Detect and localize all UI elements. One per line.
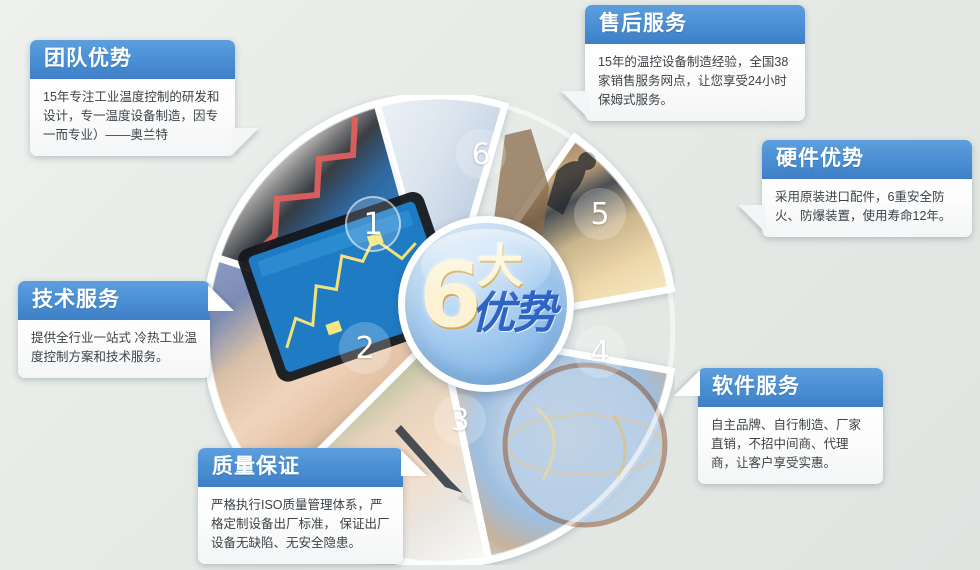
technical-service-card-title: 技术服务: [18, 281, 210, 320]
center-emblem: 6 大 优势: [398, 216, 574, 392]
after-sales-service-card[interactable]: 售后服务 15年的温控设备制造经验，全国38家销售服务网点，让您享受24小时保姆…: [585, 5, 805, 121]
after-sales-service-card-tail: [561, 91, 587, 117]
software-service-card[interactable]: 软件服务 自主品牌、自行制造、厂家直销，不招中间商、代理商，让客户享受实惠。: [698, 368, 883, 484]
quality-assurance-card-title: 质量保证: [198, 448, 403, 487]
team-advantage-card[interactable]: 团队优势 15年专注工业温度控制的研发和设计，专一温度设备制造，因专一而专业）—…: [30, 40, 235, 156]
center-disc: 6 大 优势: [405, 223, 567, 385]
technical-service-card-body: 提供全行业一站式 冷热工业温度控制方案和技术服务。: [18, 320, 210, 378]
software-service-card-tail: [674, 370, 700, 396]
team-advantage-card-tail: [233, 128, 259, 154]
infographic-canvas: 1 2 3 4 5 6 6 大 优势 团队优势 15年专注工业温度控制的研发和设…: [0, 0, 980, 570]
hardware-advantage-card-title: 硬件优势: [762, 140, 972, 179]
technical-service-card-tail: [208, 285, 234, 311]
quality-assurance-card[interactable]: 质量保证 严格执行ISO质量管理体系，严格定制设备出厂标准， 保证出厂设备无缺陷…: [198, 448, 403, 564]
software-service-card-title: 软件服务: [698, 368, 883, 407]
hardware-advantage-card[interactable]: 硬件优势 采用原装进口配件，6重安全防火、防爆装置，使用寿命12年。: [762, 140, 972, 237]
team-advantage-card-body: 15年专注工业温度控制的研发和设计，专一温度设备制造，因专一而专业）——奥兰特: [30, 79, 235, 156]
quality-assurance-card-tail: [401, 450, 427, 476]
quality-assurance-card-body: 严格执行ISO质量管理体系，严格定制设备出厂标准， 保证出厂设备无缺陷、无安全隐…: [198, 487, 403, 564]
after-sales-service-card-title: 售后服务: [585, 5, 805, 44]
center-unit-label: 大: [477, 243, 523, 289]
software-service-card-body: 自主品牌、自行制造、厂家直销，不招中间商、代理商，让客户享受实惠。: [698, 407, 883, 484]
hardware-advantage-card-body: 采用原装进口配件，6重安全防火、防爆装置，使用寿命12年。: [762, 179, 972, 237]
after-sales-service-card-body: 15年的温控设备制造经验，全国38家销售服务网点，让您享受24小时保姆式服务。: [585, 44, 805, 121]
team-advantage-card-title: 团队优势: [30, 40, 235, 79]
technical-service-card[interactable]: 技术服务 提供全行业一站式 冷热工业温度控制方案和技术服务。: [18, 281, 210, 378]
center-word-label: 优势: [471, 291, 555, 337]
hardware-advantage-card-tail: [738, 205, 764, 231]
